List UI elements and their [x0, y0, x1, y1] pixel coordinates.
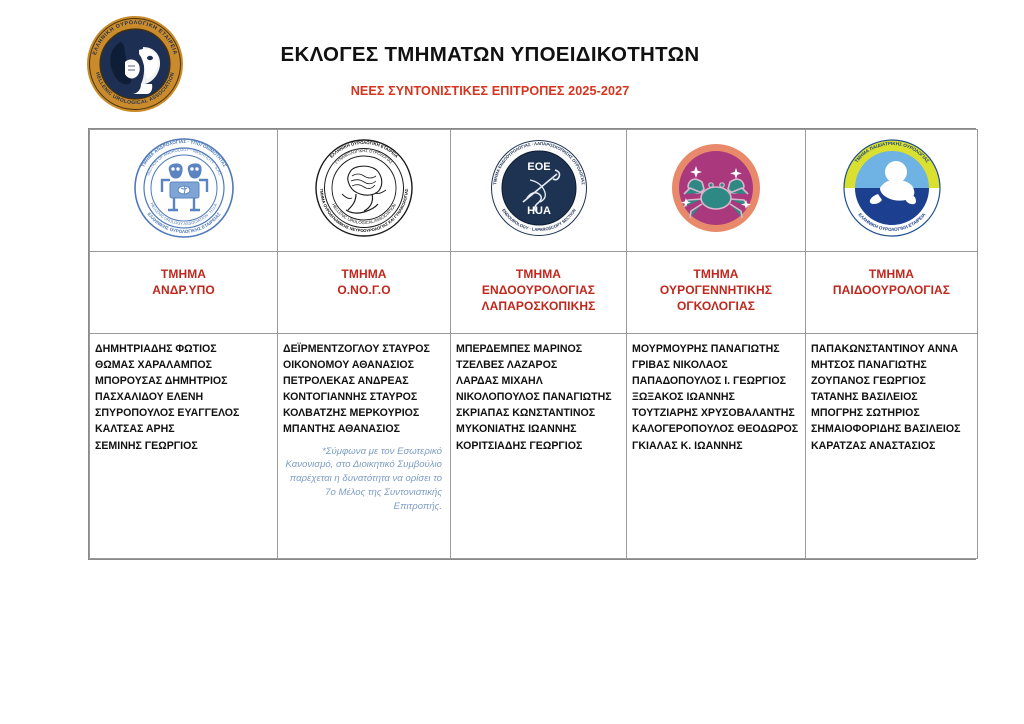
members-cell-oncology: ΜΟΥΡΜΟΥΡΗΣ ΠΑΝΑΓΙΩΤΗΣΓΡΙΒΑΣ ΝΙΚΟΛΑΟΣΠΑΠΑ… [627, 334, 806, 559]
member-name: ΟΙΚΟΝΟΜΟΥ ΑΘΑΝΑΣΙΟΣ [283, 357, 446, 373]
members-cell-pediatric: ΠΑΠΑΚΩΝΣΤΑΝΤΙΝΟΥ ΑΝΝΑΜΗΤΣΟΣ ΠΑΝΑΓΙΩΤΗΣΖΟ… [806, 334, 978, 559]
dept-title-line1: ΤΜΗΜΑ [627, 267, 805, 283]
member-name: ΤΖΕΛΒΕΣ ΛΑΖΑΡΟΣ [456, 357, 622, 373]
member-list: ΜΟΥΡΜΟΥΡΗΣ ΠΑΝΑΓΙΩΤΗΣΓΡΙΒΑΣ ΝΙΚΟΛΑΟΣΠΑΠΑ… [632, 341, 801, 454]
members-cell-neurourology: ΔΕΪΡΜΕΝΤΖΟΓΛΟΥ ΣΤΑΥΡΟΣΟΙΚΟΝΟΜΟΥ ΑΘΑΝΑΣΙΟ… [278, 334, 451, 559]
member-name: ΜΗΤΣΟΣ ΠΑΝΑΓΙΩΤΗΣ [811, 357, 973, 373]
dept-title-line3: ΛΑΠΑΡΟΣΚΟΠΙΚΗΣ [451, 299, 626, 315]
dept-title-line2: Ο.ΝΟ.Γ.Ο [278, 283, 450, 299]
member-name: ΞΩΞΑΚΟΣ ΙΩΑΝΝΗΣ [632, 389, 801, 405]
urogenital-oncology-crab-logo [666, 138, 766, 238]
endourology-laparoscopy-section-logo: ΕΟΕ HUA ΤΜΗΜΑ ΕΝΔΟΟΥΡΟΛΟΓΙΑΣ · ΛΑΠΑΡΟΣΚΟ… [487, 136, 591, 240]
department-header-row: ΤΜΗΜΑ ΑΝΔΡ.ΥΠΟ ΤΜΗΜΑ Ο.ΝΟ.Γ.Ο ΤΜΗΜΑ ΕΝΔΟ… [90, 252, 978, 334]
member-name: ΠΑΠΑΚΩΝΣΤΑΝΤΙΝΟΥ ΑΝΝΑ [811, 341, 973, 357]
member-name: ΜΠΟΡΟΥΣΑΣ ΔΗΜΗΤΡΙΟΣ [95, 373, 273, 389]
logo-cell-oncology [627, 130, 806, 252]
member-name: ΓΡΙΒΑΣ ΝΙΚΟΛΑΟΣ [632, 357, 801, 373]
member-name: ΖΟΥΠΑΝΟΣ ΓΕΩΡΓΙΟΣ [811, 373, 973, 389]
andrology-infertility-section-logo: ΤΜΗΜΑ ΑΝΔΡΟΛΟΓΙΑΣ · ΥΠΟΓΟΝΙΜΟΤΗΤΑΣ ΕΛΛΗΝ… [132, 136, 236, 240]
logo-cell-neurourology: ΕΛΛΗΝΙΚΗ ΟΥΡΟΛΟΓΙΚΗ ΕΤΑΙΡΕΙΑ ΤΜΗΜΑ ΟΥΡΟΔ… [278, 130, 451, 252]
dept-title-line2: ΕΝΔΟΟΥΡΟΛΟΓΙΑΣ [451, 283, 626, 299]
member-name: ΚΑΛΟΓΕΡΟΠΟΥΛΟΣ ΘΕΟΔΩΡΟΣ [632, 421, 801, 437]
hellenic-urological-association-logo: ΕΛΛΗΝΙΚΗ ΟΥΡΟΛΟΓΙΚΗ ΕΤΑΙΡΕΙΑ HELLENIC UR… [85, 14, 185, 114]
member-name: ΣΕΜΙΝΗΣ ΓΕΩΡΓΙΟΣ [95, 438, 273, 454]
member-name: ΠΑΠΑΔΟΠΟΥΛΟΣ Ι. ΓΕΩΡΓΙΟΣ [632, 373, 801, 389]
members-cell-endourology: ΜΠΕΡΔΕΜΠΕΣ ΜΑΡΙΝΟΣΤΖΕΛΒΕΣ ΛΑΖΑΡΟΣΛΑΡΔΑΣ … [451, 334, 627, 559]
member-name: ΜΟΥΡΜΟΥΡΗΣ ΠΑΝΑΓΙΩΤΗΣ [632, 341, 801, 357]
sections-table: ΤΜΗΜΑ ΑΝΔΡΟΛΟΓΙΑΣ · ΥΠΟΓΟΝΙΜΟΤΗΤΑΣ ΕΛΛΗΝ… [88, 128, 976, 560]
logo-cell-andrology: ΤΜΗΜΑ ΑΝΔΡΟΛΟΓΙΑΣ · ΥΠΟΓΟΝΙΜΟΤΗΤΑΣ ΕΛΛΗΝ… [90, 130, 278, 252]
member-name: ΓΚΙΑΛΑΣ Κ. ΙΩΑΝΝΗΣ [632, 438, 801, 454]
dept-header-andrology: ΤΜΗΜΑ ΑΝΔΡ.ΥΠΟ [90, 252, 278, 334]
member-name: ΣΠΥΡΟΠΟΥΛΟΣ ΕΥΑΓΓΕΛΟΣ [95, 405, 273, 421]
member-name: ΔΕΪΡΜΕΝΤΖΟΓΛΟΥ ΣΤΑΥΡΟΣ [283, 341, 446, 357]
member-name: ΣΗΜΑΙΟΦΟΡΙΔΗΣ ΒΑΣΙΛΕΙΟΣ [811, 421, 973, 437]
member-name: ΠΕΤΡΟΛΕΚΑΣ ΑΝΔΡΕΑΣ [283, 373, 446, 389]
member-name: ΠΑΣΧΑΛΙΔΟΥ ΕΛΕΝΗ [95, 389, 273, 405]
dept-title-line1: ΤΜΗΜΑ [806, 267, 977, 283]
page-title: ΕΚΛΟΓΕΣ ΤΜΗΜΑΤΩΝ ΥΠΟΕΙΔΙΚΟΤΗΤΩΝ [210, 44, 770, 67]
dept-title-line1: ΤΜΗΜΑ [90, 267, 277, 283]
dept-header-oncology: ΤΜΗΜΑ ΟΥΡΟΓΕΝΝΗΤΙΚΗΣ ΟΓΚΟΛΟΓΙΑΣ [627, 252, 806, 334]
dept-title-line2: ΠΑΙΔΟΟΥΡΟΛΟΓΙΑΣ [806, 283, 977, 299]
member-name: ΚΟΝΤΟΓΙΑΝΝΗΣ ΣΤΑΥΡΟΣ [283, 389, 446, 405]
member-name: ΚΑΛΤΣΑΣ ΑΡΗΣ [95, 421, 273, 437]
document-header: ΕΛΛΗΝΙΚΗ ΟΥΡΟΛΟΓΙΚΗ ΕΤΑΙΡΕΙΑ HELLENIC UR… [0, 0, 1024, 128]
dept-title-line2: ΑΝΔΡ.ΥΠΟ [90, 283, 277, 299]
member-name: ΝΙΚΟΛΟΠΟΥΛΟΣ ΠΑΝΑΓΙΩΤΗΣ [456, 389, 622, 405]
footnote: *Σύμφωνα με τον Εσωτερικό Κανονισμό, στο… [283, 445, 446, 515]
member-name: ΚΟΡΙΤΣΙΑΔΗΣ ΓΕΩΡΓΙΟΣ [456, 438, 622, 454]
member-list: ΔΗΜΗΤΡΙΑΔΗΣ ΦΩΤΙΟΣΘΩΜΑΣ ΧΑΡΑΛΑΜΠΟΣΜΠΟΡΟΥ… [95, 341, 273, 454]
logo-cell-pediatric: ΤΜΗΜΑ ΠΑΙΔΙΑΤΡΙΚΗΣ ΟΥΡΟΛΟΓΙΑΣ ΕΛΛΗΝΙΚΗ Ο… [806, 130, 978, 252]
document-page: ΕΛΛΗΝΙΚΗ ΟΥΡΟΛΟΓΙΚΗ ΕΤΑΙΡΕΙΑ HELLENIC UR… [0, 0, 1024, 724]
member-name: ΣΚΡΙΑΠΑΣ ΚΩΝΣΤΑΝΤΙΝΟΣ [456, 405, 622, 421]
dept-title-line3: ΟΓΚΟΛΟΓΙΑΣ [627, 299, 805, 315]
svg-text:HUA: HUA [527, 205, 551, 217]
members-row: ΔΗΜΗΤΡΙΑΔΗΣ ΦΩΤΙΟΣΘΩΜΑΣ ΧΑΡΑΛΑΜΠΟΣΜΠΟΡΟΥ… [90, 334, 978, 559]
neurourology-gynecologic-urology-section-logo: ΕΛΛΗΝΙΚΗ ΟΥΡΟΛΟΓΙΚΗ ΕΤΑΙΡΕΙΑ ΤΜΗΜΑ ΟΥΡΟΔ… [312, 136, 416, 240]
member-name: ΚΟΛΒΑΤΖΗΣ ΜΕΡΚΟΥΡΙΟΣ [283, 405, 446, 421]
members-cell-andrology: ΔΗΜΗΤΡΙΑΔΗΣ ΦΩΤΙΟΣΘΩΜΑΣ ΧΑΡΑΛΑΜΠΟΣΜΠΟΡΟΥ… [90, 334, 278, 559]
pediatric-urology-section-logo: ΤΜΗΜΑ ΠΑΙΔΙΑΤΡΙΚΗΣ ΟΥΡΟΛΟΓΙΑΣ ΕΛΛΗΝΙΚΗ Ο… [840, 136, 944, 240]
svg-text:ΕΟΕ: ΕΟΕ [527, 161, 550, 173]
member-name: ΘΩΜΑΣ ΧΑΡΑΛΑΜΠΟΣ [95, 357, 273, 373]
member-list: ΠΑΠΑΚΩΝΣΤΑΝΤΙΝΟΥ ΑΝΝΑΜΗΤΣΟΣ ΠΑΝΑΓΙΩΤΗΣΖΟ… [811, 341, 973, 454]
member-name: ΜΠΟΓΡΗΣ ΣΩΤΗΡΙΟΣ [811, 405, 973, 421]
member-list: ΔΕΪΡΜΕΝΤΖΟΓΛΟΥ ΣΤΑΥΡΟΣΟΙΚΟΝΟΜΟΥ ΑΘΑΝΑΣΙΟ… [283, 341, 446, 438]
member-name: ΜΠΕΡΔΕΜΠΕΣ ΜΑΡΙΝΟΣ [456, 341, 622, 357]
member-name: ΚΑΡΑΤΖΑΣ ΑΝΑΣΤΑΣΙΟΣ [811, 438, 973, 454]
member-name: ΛΑΡΔΑΣ ΜΙΧΑΗΛ [456, 373, 622, 389]
member-name: ΜΠΑΝΤΗΣ ΑΘΑΝΑΣΙΟΣ [283, 421, 446, 437]
dept-header-pediatric: ΤΜΗΜΑ ΠΑΙΔΟΟΥΡΟΛΟΓΙΑΣ [806, 252, 978, 334]
dept-title-line1: ΤΜΗΜΑ [278, 267, 450, 283]
dept-title-line1: ΤΜΗΜΑ [451, 267, 626, 283]
member-name: ΜΥΚΟΝΙΑΤΗΣ ΙΩΑΝΝΗΣ [456, 421, 622, 437]
dept-header-endourology: ΤΜΗΜΑ ΕΝΔΟΟΥΡΟΛΟΓΙΑΣ ΛΑΠΑΡΟΣΚΟΠΙΚΗΣ [451, 252, 627, 334]
member-name: ΤΑΤΑΝΗΣ ΒΑΣΙΛΕΙΟΣ [811, 389, 973, 405]
member-list: ΜΠΕΡΔΕΜΠΕΣ ΜΑΡΙΝΟΣΤΖΕΛΒΕΣ ΛΑΖΑΡΟΣΛΑΡΔΑΣ … [456, 341, 622, 454]
dept-header-neurourology: ΤΜΗΜΑ Ο.ΝΟ.Γ.Ο [278, 252, 451, 334]
member-name: ΔΗΜΗΤΡΙΑΔΗΣ ΦΩΤΙΟΣ [95, 341, 273, 357]
title-block: ΕΚΛΟΓΕΣ ΤΜΗΜΑΤΩΝ ΥΠΟΕΙΔΙΚΟΤΗΤΩΝ ΝΕΕΣ ΣΥΝ… [210, 44, 770, 98]
logo-row: ΤΜΗΜΑ ΑΝΔΡΟΛΟΓΙΑΣ · ΥΠΟΓΟΝΙΜΟΤΗΤΑΣ ΕΛΛΗΝ… [90, 130, 978, 252]
member-name: ΤΟΥΤΖΙΑΡΗΣ ΧΡΥΣΟΒΑΛΑΝΤΗΣ [632, 405, 801, 421]
dept-title-line2: ΟΥΡΟΓΕΝΝΗΤΙΚΗΣ [627, 283, 805, 299]
logo-cell-endourology: ΕΟΕ HUA ΤΜΗΜΑ ΕΝΔΟΟΥΡΟΛΟΓΙΑΣ · ΛΑΠΑΡΟΣΚΟ… [451, 130, 627, 252]
page-subtitle: ΝΕΕΣ ΣΥΝΤΟΝΙΣΤΙΚΕΣ ΕΠΙΤΡΟΠΕΣ 2025-2027 [210, 84, 770, 98]
